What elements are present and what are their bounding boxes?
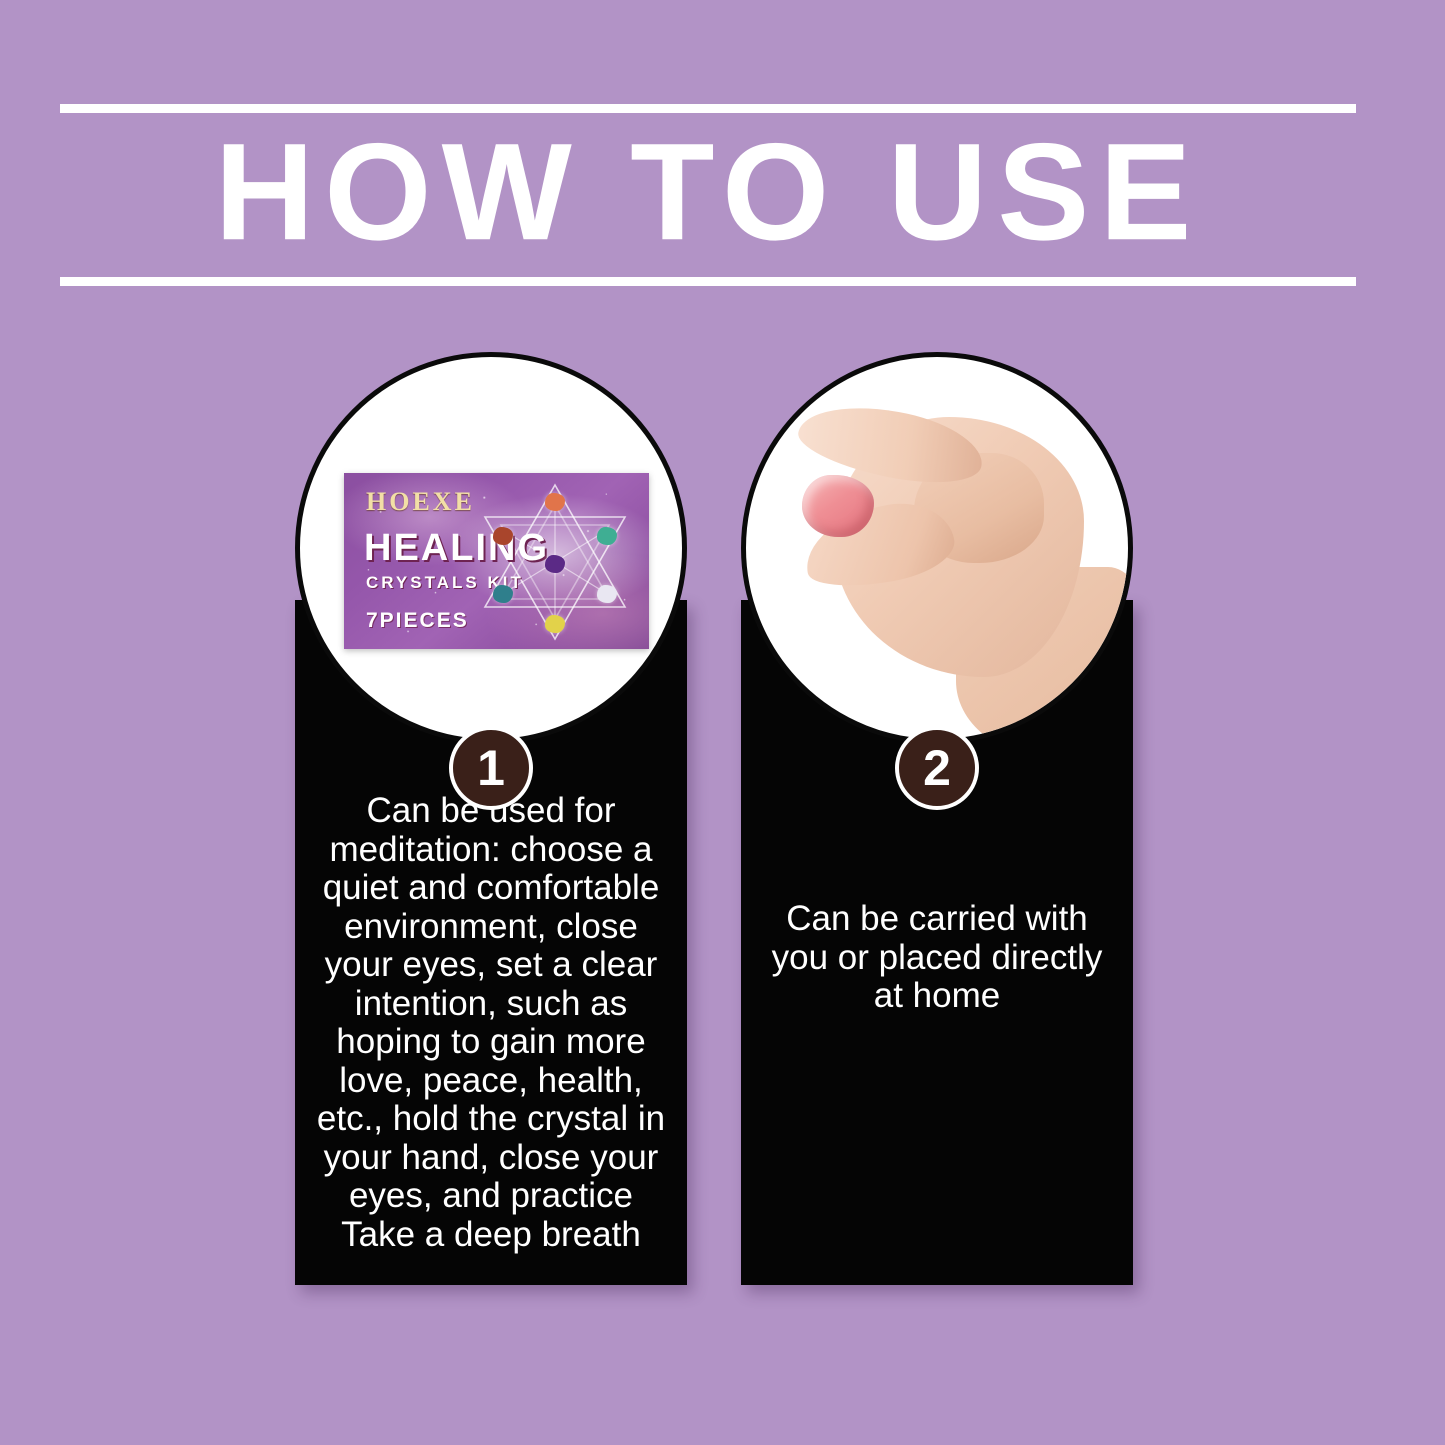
step-image-circle-1: HOEXE HEALING CRYSTALS KIT 7PIECES (295, 352, 687, 744)
crystal-blue-apatite (493, 585, 513, 603)
crystal-clear-quartz (597, 585, 617, 603)
crystal-green-aventurine (597, 527, 617, 545)
step-number-badge-1: 1 (449, 726, 533, 810)
crystal-citrine-yellow (545, 615, 565, 633)
product-box-image: HOEXE HEALING CRYSTALS KIT 7PIECES (344, 473, 649, 649)
step-number-badge-2: 2 (895, 726, 979, 810)
step-image-circle-2 (741, 352, 1133, 744)
crystal-gem-group (473, 479, 637, 645)
header: HOW TO USE (60, 104, 1356, 286)
crystal-amethyst-purple (545, 555, 565, 573)
rose-quartz-crystal (802, 475, 874, 537)
crystal-carnelian-orange (545, 493, 565, 511)
product-brand-label: HOEXE (366, 487, 475, 517)
step-description-1: Can be used for meditation: choose a qui… (313, 792, 669, 1254)
step-card-1: HOEXE HEALING CRYSTALS KIT 7PIECES 1 Can… (295, 352, 687, 1292)
crystal-red-jasper-brown (493, 527, 513, 545)
step-card-2: 2 Can be carried with you or placed dire… (741, 352, 1133, 1292)
product-pieces-label: 7PIECES (366, 609, 469, 633)
header-rule-top (60, 104, 1356, 113)
hand-holding-crystal-image (746, 357, 1128, 739)
steps-container: HOEXE HEALING CRYSTALS KIT 7PIECES 1 Can… (0, 352, 1445, 1297)
page-title: HOW TO USE (60, 123, 1356, 261)
step-description-2: Can be carried with you or placed direct… (759, 900, 1115, 1016)
header-rule-bottom (60, 277, 1356, 286)
